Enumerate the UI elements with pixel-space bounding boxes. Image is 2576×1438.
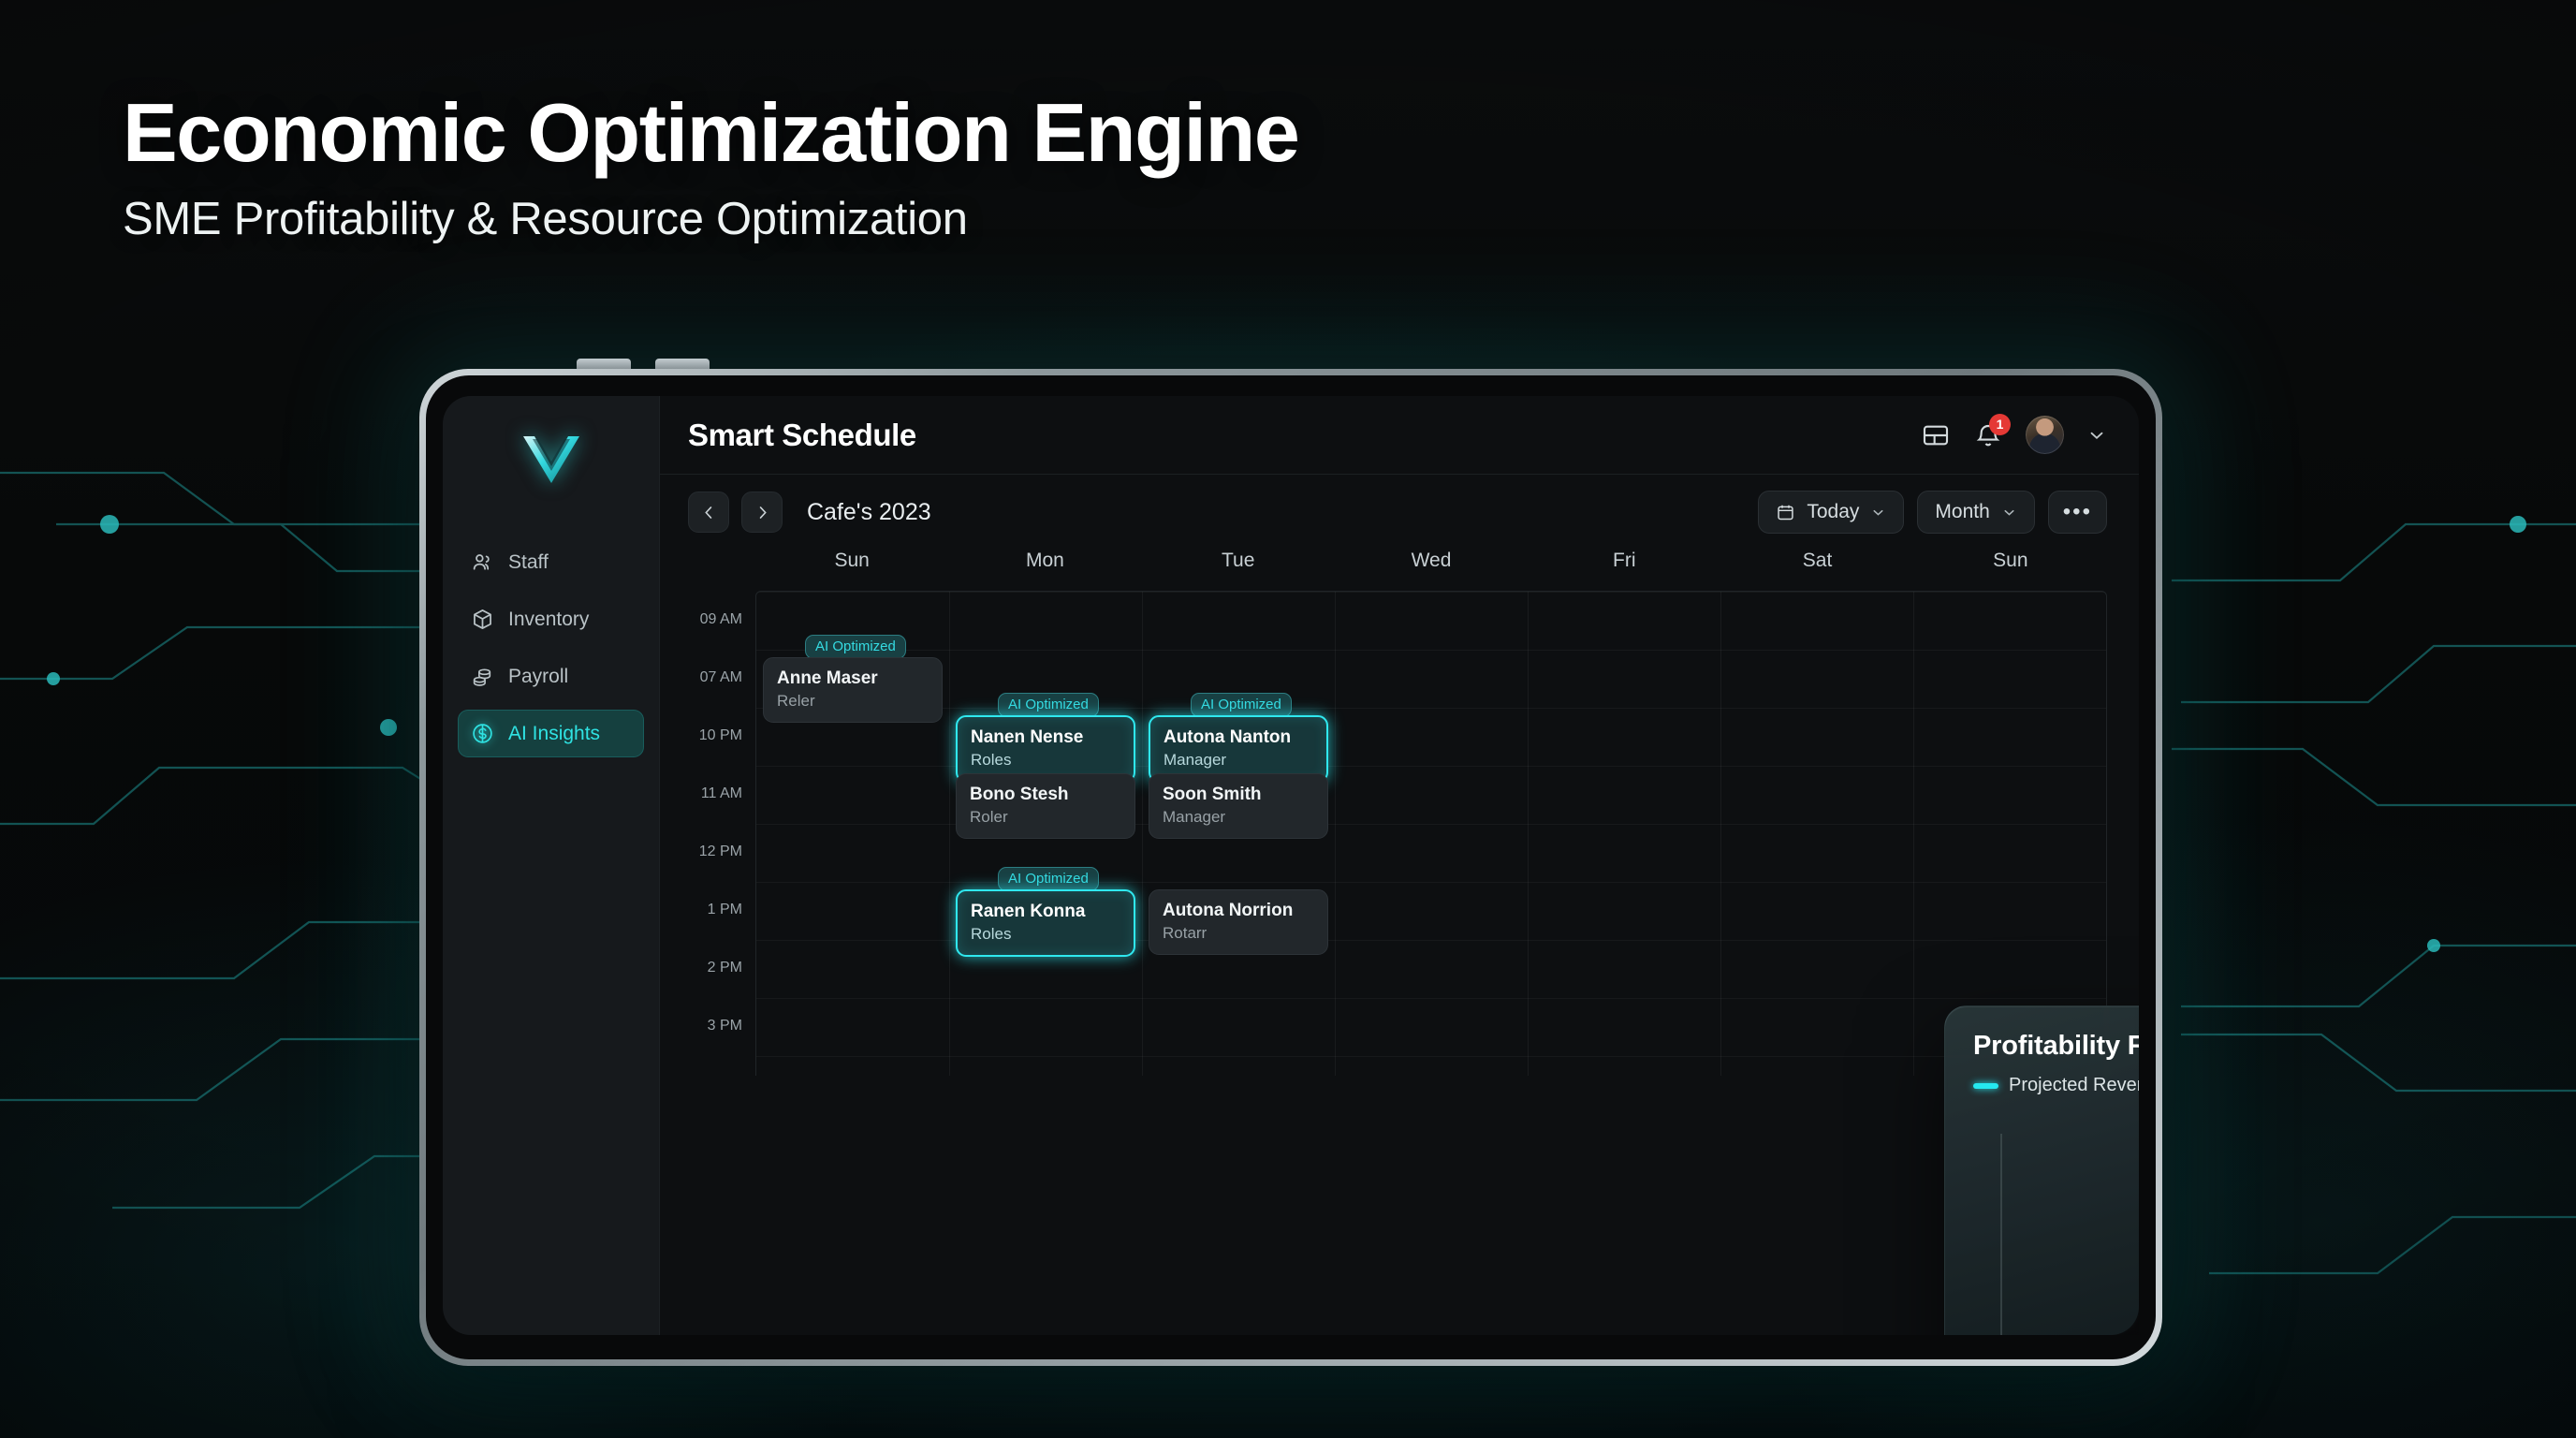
event-staff-name: Autona Norrion <box>1163 901 1314 921</box>
calendar-time-label: 12 PM <box>688 844 755 902</box>
notification-badge: 1 <box>1989 414 2011 435</box>
more-options-label: ••• <box>2063 499 2092 525</box>
sidebar-item-label: Payroll <box>508 666 568 688</box>
calendar-toolbar: Cafe's 2023 Today Month <box>660 475 2139 550</box>
schedule-event-card[interactable]: Autona NorrionRotarr <box>1149 889 1328 955</box>
volume-button-up <box>577 359 631 369</box>
legend-label: Projected Revenue <box>2009 1075 2139 1096</box>
page-subtitle: SME Profitability & Resource Optimizatio… <box>123 193 1298 245</box>
today-dropdown[interactable]: Today <box>1758 491 1904 534</box>
calendar-day-header: Tue <box>1142 550 1335 572</box>
calendar-grid-wrap: 09 AM07 AM10 PM11 AM12 PM1 PM2 PM3 PM AI… <box>688 591 2107 1076</box>
today-label: Today <box>1807 501 1859 523</box>
schedule-event-card[interactable]: Bono SteshRoler <box>956 773 1135 839</box>
sidebar-item-label: Inventory <box>508 609 589 631</box>
calendar-day-header: Fri <box>1528 550 1720 572</box>
calendar-column-divider <box>1335 592 1336 1076</box>
calendar-column-divider <box>1528 592 1529 1076</box>
event-staff-name: Autona Nanton <box>1164 727 1313 748</box>
next-period-button[interactable] <box>741 492 783 533</box>
coins-icon <box>471 665 494 688</box>
app-screen: Staff Inventory Payroll <box>443 396 2139 1335</box>
date-range-label: Cafe's 2023 <box>807 499 931 526</box>
event-staff-role: Manager <box>1164 751 1313 770</box>
event-staff-role: Roles <box>971 925 1120 944</box>
calendar-column-divider <box>1720 592 1721 1076</box>
people-icon <box>471 550 494 574</box>
main-area: Smart Schedule 1 <box>660 396 2139 1335</box>
legend-item-revenue[interactable]: Projected Revenue <box>1973 1075 2139 1096</box>
calendar-time-label: 2 PM <box>688 960 755 1018</box>
view-mode-dropdown[interactable]: Month <box>1917 491 2034 534</box>
calendar-day-header: Mon <box>948 550 1141 572</box>
calendar-grid[interactable]: AI OptimizedAnne MaserRelerAI OptimizedN… <box>755 591 2107 1076</box>
chevron-right-icon <box>754 504 771 521</box>
volume-button-down <box>655 359 710 369</box>
notifications-button[interactable]: 1 <box>1973 420 2003 450</box>
event-staff-role: Roles <box>971 751 1120 770</box>
tablet-bezel: Staff Inventory Payroll <box>426 375 2156 1359</box>
page-title: Economic Optimization Engine <box>123 90 1298 176</box>
calendar-time-label: 1 PM <box>688 902 755 960</box>
calendar-column-divider <box>949 592 950 1076</box>
calendar-day-header: Sun <box>755 550 948 572</box>
event-staff-role: Roler <box>970 808 1121 827</box>
prev-period-button[interactable] <box>688 492 729 533</box>
v-logo-icon <box>520 433 582 487</box>
calendar-day-header: Sat <box>1720 550 1913 572</box>
brain-ai-icon <box>471 722 494 745</box>
view-mode-label: Month <box>1935 501 1989 523</box>
ai-optimized-badge: AI Optimized <box>998 867 1099 891</box>
calendar-icon <box>1776 503 1795 522</box>
event-staff-name: Anne Maser <box>777 668 929 689</box>
calendar-time-label: 09 AM <box>688 611 755 669</box>
ai-optimized-badge: AI Optimized <box>1191 693 1292 717</box>
chart-area-fill <box>2001 1162 2139 1335</box>
event-staff-name: Bono Stesh <box>970 785 1121 805</box>
app-logo[interactable] <box>458 420 644 499</box>
calendar-time-labels: 09 AM07 AM10 PM11 AM12 PM1 PM2 PM3 PM <box>688 591 755 1076</box>
screen-title: Smart Schedule <box>688 418 916 453</box>
schedule-event-card[interactable]: Ranen KonnaRoles <box>956 889 1135 957</box>
sidebar-item-label: Staff <box>508 551 549 574</box>
calendar-time-label: 3 PM <box>688 1018 755 1076</box>
hero-block: Economic Optimization Engine SME Profita… <box>123 90 1298 245</box>
chevron-down-icon[interactable] <box>2086 425 2107 446</box>
avatar[interactable] <box>2026 416 2064 454</box>
sidebar-item-label: AI Insights <box>508 723 600 745</box>
sidebar-item-inventory[interactable]: Inventory <box>458 595 644 643</box>
toolbar-left: Cafe's 2023 <box>688 492 931 533</box>
chevron-left-icon <box>700 504 718 521</box>
calendar-column-divider <box>1913 592 1914 1076</box>
calendar-column-divider <box>1142 592 1143 1076</box>
calendar-time-label: 11 AM <box>688 785 755 844</box>
chart-legend: Projected Revenue Labor Cost <box>1973 1075 2139 1096</box>
event-staff-role: Rotarr <box>1163 924 1314 943</box>
calendar: SunMonTueWedFriSatSun 09 AM07 AM10 PM11 … <box>660 550 2139 1335</box>
event-staff-name: Nanen Nense <box>971 727 1120 748</box>
topbar: Smart Schedule 1 <box>660 396 2139 475</box>
calendar-day-header: Sun <box>1914 550 2107 572</box>
chevron-down-icon <box>2001 505 2017 521</box>
chart-svg <box>1945 1117 2139 1335</box>
chart-line-revenue <box>2001 1162 2139 1335</box>
topbar-actions: 1 <box>1921 416 2107 454</box>
sidebar-item-ai-insights[interactable]: AI Insights <box>458 710 644 757</box>
more-options-button[interactable]: ••• <box>2048 491 2107 534</box>
forecast-chart <box>1945 1117 2139 1335</box>
ai-optimized-badge: AI Optimized <box>805 635 906 659</box>
ai-optimized-badge: AI Optimized <box>998 693 1099 717</box>
sidebar-nav: Staff Inventory Payroll <box>458 538 644 757</box>
toolbar-right: Today Month ••• <box>1758 491 2107 534</box>
event-staff-name: Ranen Konna <box>971 902 1120 922</box>
box-icon <box>471 608 494 631</box>
calendar-time-label: 10 PM <box>688 727 755 785</box>
legend-swatch-solid <box>1973 1083 1998 1089</box>
sidebar-item-payroll[interactable]: Payroll <box>458 653 644 700</box>
schedule-event-card[interactable]: Anne MaserReler <box>763 657 943 723</box>
calendar-time-label: 07 AM <box>688 669 755 727</box>
tablet-device: Staff Inventory Payroll <box>419 369 2162 1366</box>
calendar-day-headers: SunMonTueWedFriSatSun <box>688 550 2107 591</box>
forecast-title: Profitability Forecast <box>1973 1031 2139 1062</box>
calendar-day-header: Wed <box>1335 550 1528 572</box>
event-staff-role: Manager <box>1163 808 1314 827</box>
chevron-down-icon <box>1870 505 1886 521</box>
schedule-event-card[interactable]: Soon SmithManager <box>1149 773 1328 839</box>
event-staff-name: Soon Smith <box>1163 785 1314 805</box>
sidebar-item-staff[interactable]: Staff <box>458 538 644 586</box>
event-staff-role: Reler <box>777 692 929 711</box>
sidebar: Staff Inventory Payroll <box>443 396 660 1335</box>
layout-grid-icon[interactable] <box>1921 420 1951 450</box>
profitability-forecast-panel: Profitability Forecast Projected Revenue… <box>1944 1005 2139 1335</box>
